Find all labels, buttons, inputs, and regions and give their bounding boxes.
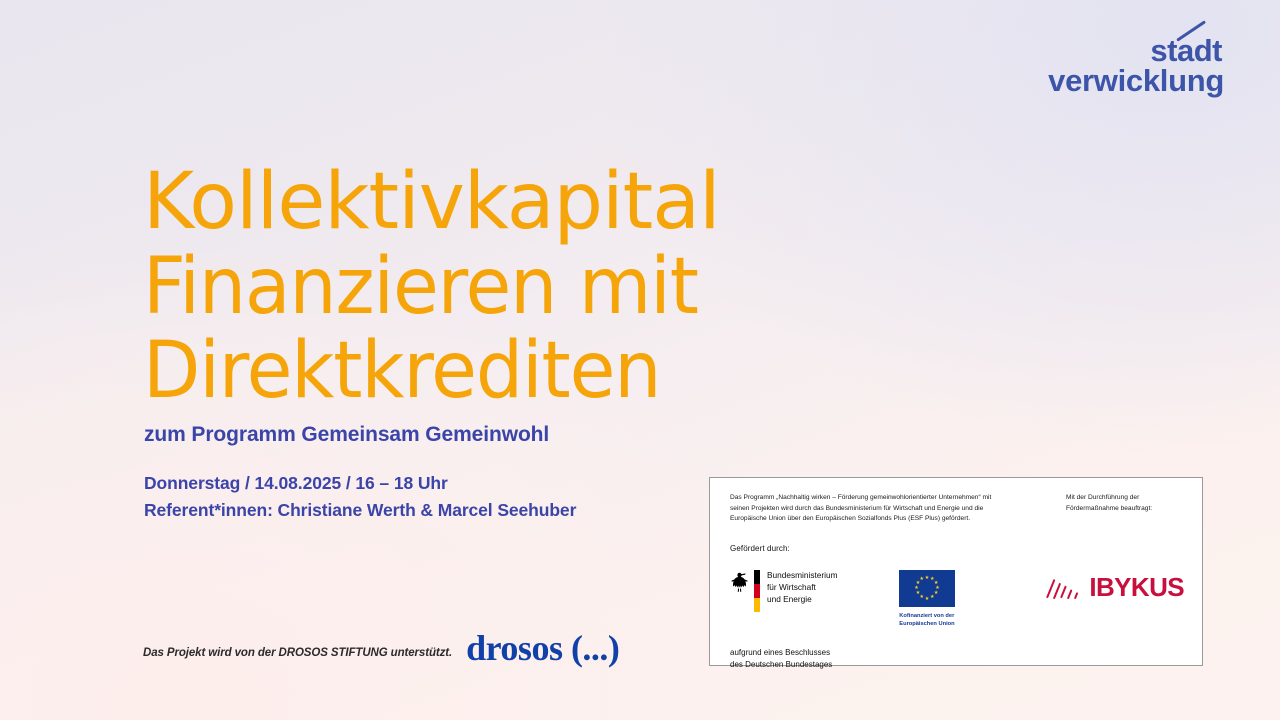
- bundestag-note: aufgrund eines Beschlusses des Deutschen…: [730, 647, 1184, 671]
- german-flag-bar-icon: [754, 570, 760, 612]
- bmwk-line-2: für Wirtschaft: [767, 582, 838, 594]
- flag-band-black: [754, 570, 760, 584]
- funding-box-header: Das Programm „Nachhaltig wirken – Förder…: [730, 493, 1184, 525]
- eu-star-icon: ★: [925, 576, 929, 581]
- bundestag-note-line-2: des Deutschen Bundestages: [730, 659, 1184, 671]
- brand-logo-line1: stadt: [1150, 36, 1224, 65]
- bundestag-note-line-1: aufgrund eines Beschlusses: [730, 647, 1184, 659]
- funding-description: Das Programm „Nachhaltig wirken – Förder…: [730, 493, 1002, 525]
- ibykus-stripe: [1060, 586, 1067, 599]
- eu-star-icon: ★: [920, 577, 924, 582]
- flag-band-red: [754, 584, 760, 598]
- event-date: Donnerstag / 14.08.2025 / 16 – 18 Uhr: [144, 470, 576, 497]
- funding-box: Das Programm „Nachhaltig wirken – Förder…: [709, 477, 1203, 666]
- funded-by-label: Gefördert durch:: [730, 544, 1184, 553]
- drosos-footer: Das Projekt wird von der DROSOS STIFTUNG…: [143, 630, 619, 666]
- event-meta: Donnerstag / 14.08.2025 / 16 – 18 Uhr Re…: [144, 470, 576, 523]
- page-title: Kollektivkapital Finanzieren mit Direktk…: [143, 163, 1280, 413]
- ibykus-logo: IBYKUS: [1046, 574, 1184, 600]
- eu-star-icon: ★: [925, 597, 929, 602]
- ibykus-stripe: [1067, 589, 1073, 599]
- eu-caption-line-2: Europäischen Union: [899, 620, 954, 628]
- eu-star-icon: ★: [930, 595, 934, 600]
- ibykus-stripes-icon: [1046, 576, 1082, 598]
- title-line-2: Finanzieren mit Direktkrediten: [143, 245, 1229, 413]
- eu-caption: Kofinanziert von der Europäischen Union: [899, 612, 954, 629]
- event-speakers: Referent*innen: Christiane Werth & Marce…: [144, 497, 576, 524]
- eu-star-icon: ★: [916, 591, 920, 596]
- flag-band-gold: [754, 598, 760, 612]
- eu-logo: ★★★★★★★★★★★★ Kofinanziert von der Europä…: [899, 570, 1006, 629]
- ibykus-stripe: [1074, 592, 1078, 599]
- eu-star-icon: ★: [914, 586, 918, 591]
- funding-implementation-note: Mit der Durchführung der Fördermaßnahme …: [1066, 493, 1184, 525]
- program-subtitle: zum Programm Gemeinsam Gemeinwohl: [144, 423, 549, 447]
- german-eagle-icon: [730, 571, 749, 592]
- drosos-support-note: Das Projekt wird von der DROSOS STIFTUNG…: [143, 647, 452, 666]
- presentation-slide: stadt verwicklung Kollektivkapital Finan…: [0, 0, 1280, 720]
- brand-logo-line1-text: stadt: [1150, 33, 1222, 68]
- drosos-logo: drosos (...): [466, 630, 619, 666]
- brand-logo-stadtverwicklung: stadt verwicklung: [1048, 36, 1224, 95]
- eu-star-icon: ★: [920, 595, 924, 600]
- brand-logo-line2: verwicklung: [1048, 66, 1224, 95]
- funder-logo-row: Bundesministerium für Wirtschaft und Ene…: [730, 570, 1184, 629]
- bmwk-line-1: Bundesministerium: [767, 570, 838, 582]
- eu-caption-line-1: Kofinanziert von der: [899, 612, 954, 620]
- bmwk-wordmark: Bundesministerium für Wirtschaft und Ene…: [767, 570, 838, 605]
- title-line-1: Kollektivkapital: [143, 163, 1280, 241]
- bmwk-logo: Bundesministerium für Wirtschaft und Ene…: [730, 570, 875, 612]
- bmwk-line-3: und Energie: [767, 594, 838, 606]
- ibykus-wordmark: IBYKUS: [1089, 574, 1184, 600]
- eu-flag-icon: ★★★★★★★★★★★★: [899, 570, 955, 607]
